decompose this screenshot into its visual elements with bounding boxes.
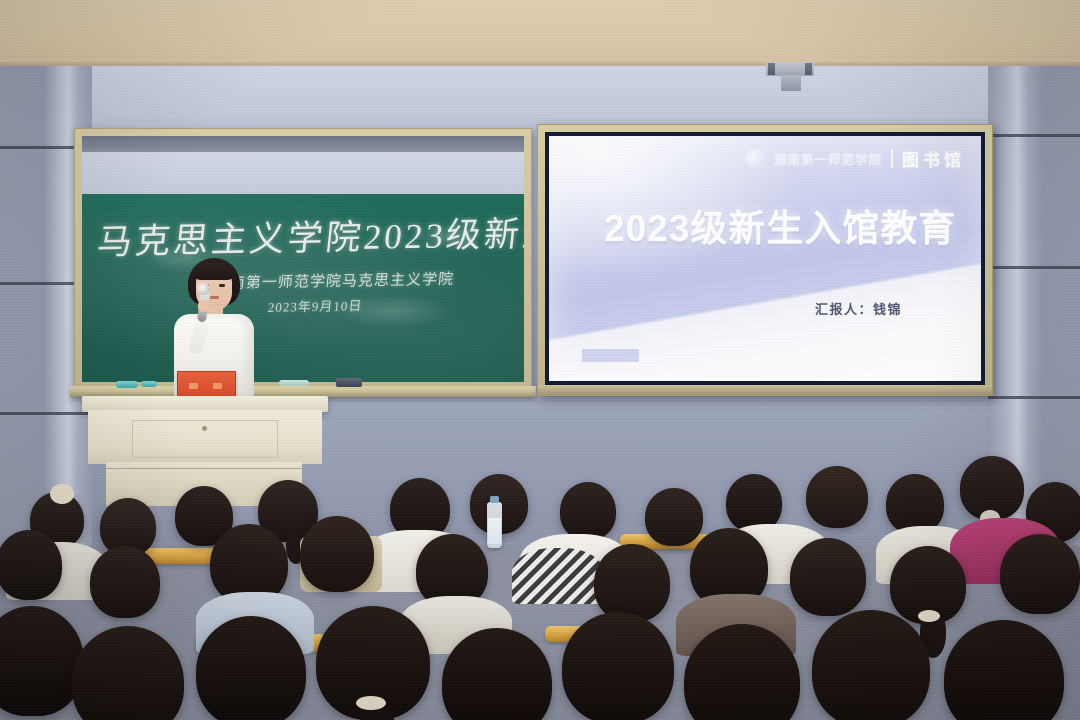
blackboard-white-panel (82, 152, 524, 194)
audience-area: COSTA (0, 430, 1080, 720)
student-head (562, 612, 674, 720)
student-head (90, 546, 160, 618)
student-head (886, 474, 944, 534)
slide-decorative-chip (582, 349, 639, 362)
hair-tie (356, 696, 386, 710)
slide-presenter: 汇报人：钱锦 (815, 299, 902, 318)
blackboard-slide-rail (82, 136, 524, 152)
student-head (300, 516, 374, 592)
ceiling-mount-stem (781, 75, 801, 91)
student-head (594, 544, 670, 622)
microphone-head-icon (197, 283, 210, 295)
slide-logo-university: 湖南第一师范学院 (774, 149, 882, 168)
red-gift-box (177, 371, 236, 399)
ceiling-speaker-mount (766, 62, 814, 76)
screen-bottom-rail (538, 385, 992, 395)
bottle-label (488, 518, 501, 544)
teal-marker (116, 381, 138, 388)
water-bottle (487, 502, 502, 548)
teal-marker (141, 381, 157, 387)
student-head (1000, 534, 1080, 614)
wall-groove-line (988, 396, 1080, 399)
wall-groove-line (0, 412, 92, 415)
presenter-eye (219, 284, 225, 287)
projector-screen: 湖南第一师范学院 图书馆 2023级新生入馆教育 汇报人：钱锦 (537, 124, 993, 396)
lecture-hall-photo: 马克思主义学院2023级新生见面会 湖南第一师范学院马克思主义学院 2023年9… (0, 0, 1080, 720)
blackboard-writing-surface: 马克思主义学院2023级新生见面会 湖南第一师范学院马克思主义学院 2023年9… (82, 194, 524, 382)
student-head (560, 482, 616, 540)
student-head (806, 466, 868, 528)
slide-logo-lockup: 湖南第一师范学院 图书馆 (745, 146, 965, 171)
chalk-piece (279, 380, 309, 386)
student-head (0, 530, 62, 600)
student-head (0, 606, 84, 716)
blackboard-eraser (336, 378, 362, 387)
presenter-mouth (210, 296, 219, 299)
student-head (944, 620, 1064, 720)
box-marking (213, 383, 222, 389)
presenter-bangs (194, 263, 234, 280)
student-head (72, 626, 184, 720)
ceiling (0, 0, 1080, 66)
blackboard-inner: 马克思主义学院2023级新生见面会 湖南第一师范学院马克思主义学院 2023年9… (82, 136, 524, 382)
blackboard-headline: 马克思主义学院2023级新生见面会 (95, 206, 517, 265)
blackboard: 马克思主义学院2023级新生见面会 湖南第一师范学院马克思主义学院 2023年9… (74, 128, 532, 390)
student-head (196, 616, 306, 720)
presentation-slide: 湖南第一师范学院 图书馆 2023级新生入馆教育 汇报人：钱锦 (549, 136, 981, 381)
slide-logo-department: 图书馆 (902, 146, 965, 171)
hair-bun (50, 484, 74, 504)
wall-upper-band (0, 66, 1080, 118)
logo-divider (891, 149, 893, 168)
wall-groove-line (988, 134, 1080, 137)
mount-clip (805, 63, 812, 75)
university-emblem-icon (745, 149, 765, 169)
bottle-cap (490, 496, 499, 503)
student-head (790, 538, 866, 616)
student-shoulders-striped (512, 548, 604, 604)
box-marking (189, 383, 198, 389)
student-head (812, 610, 930, 720)
screen-bezel: 湖南第一师范学院 图书馆 2023级新生入馆教育 汇报人：钱锦 (545, 132, 985, 385)
student-head (442, 628, 552, 720)
presenter-hand (198, 300, 209, 312)
mount-clip (768, 63, 775, 75)
blackboard-date: 2023年9月10日 (267, 295, 363, 316)
hair-tie (918, 610, 940, 622)
wall-groove-line (988, 266, 1080, 269)
student-head (645, 488, 703, 546)
slide-title: 2023级新生入馆教育 (604, 198, 956, 252)
